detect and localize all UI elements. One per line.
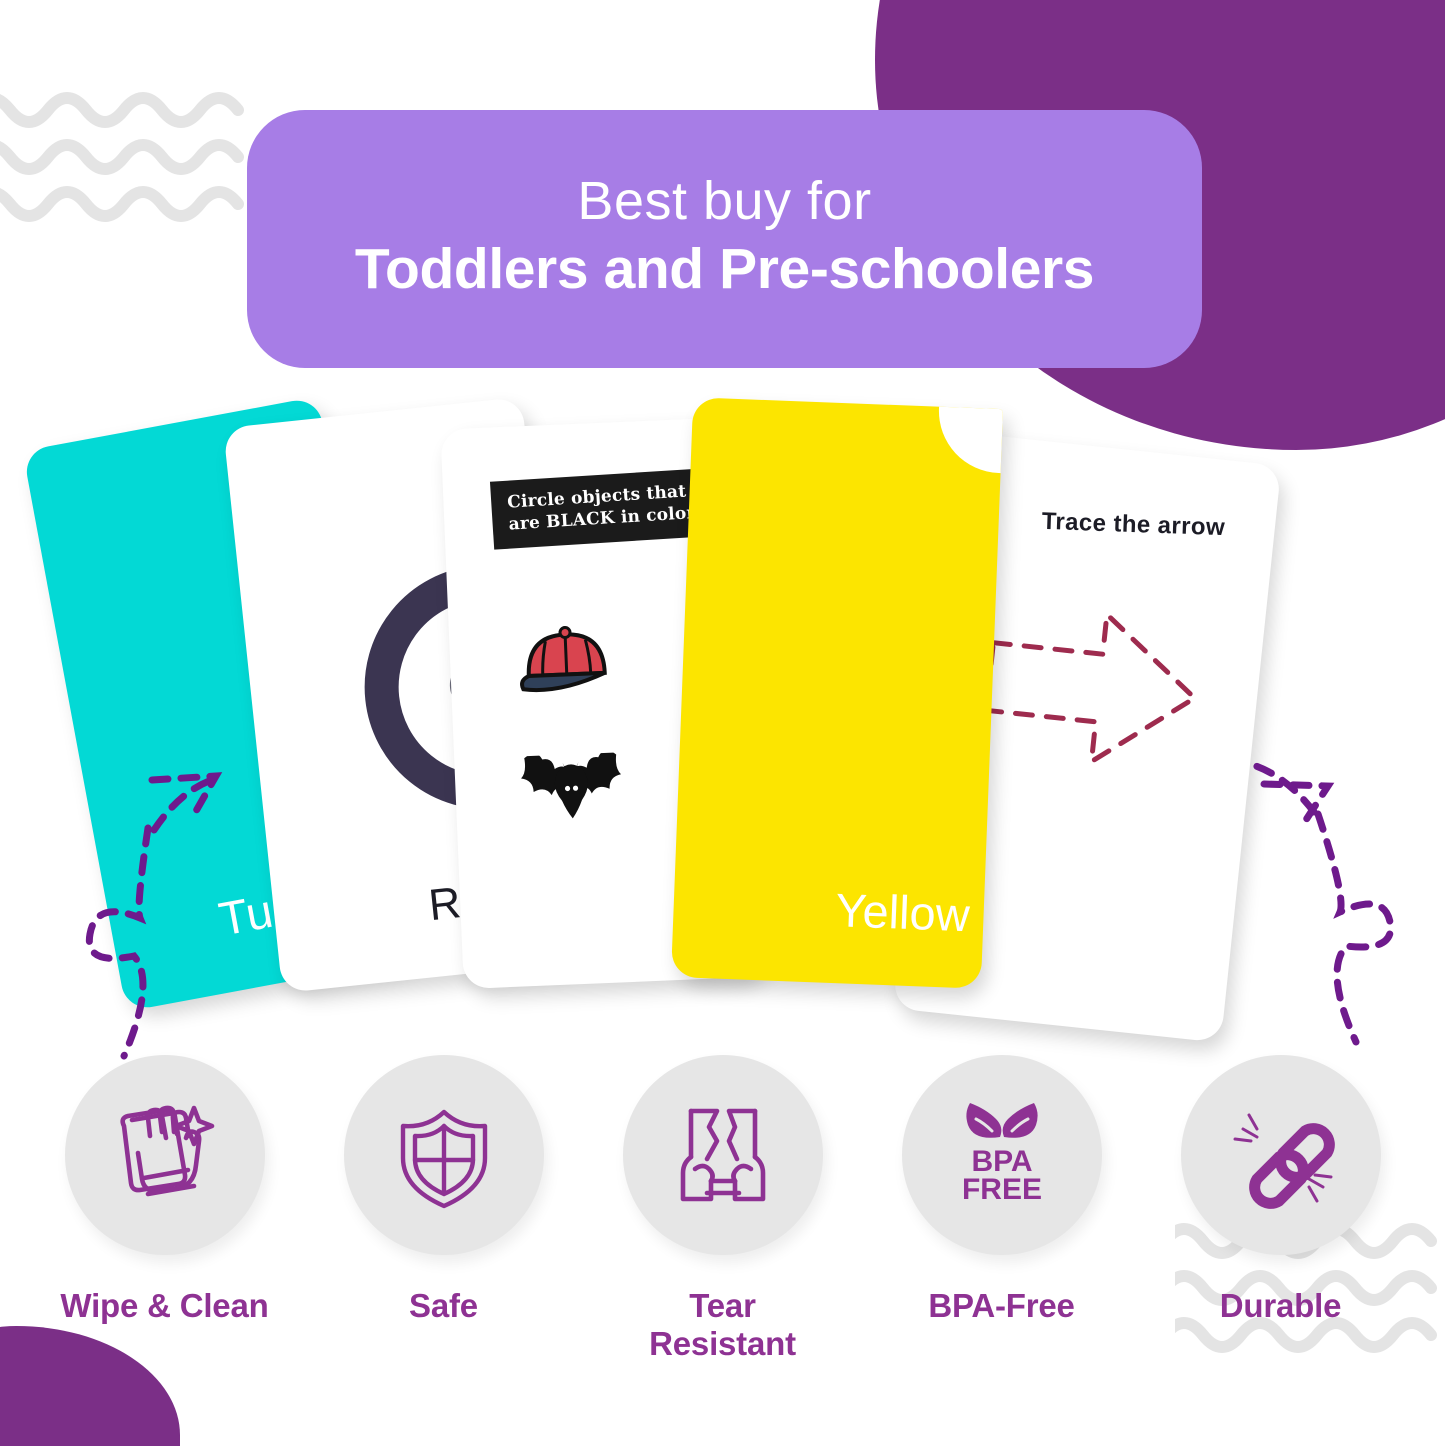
feature-wipe-clean: Wipe & Clean [52, 1055, 277, 1364]
feature-label-durable: Durable [1220, 1287, 1341, 1325]
wipe-clean-icon [106, 1096, 224, 1214]
wavy-lines-decoration-top-left [0, 85, 282, 235]
tear-resistant-icon [665, 1097, 781, 1213]
feature-circle-tear-resistant [623, 1055, 823, 1255]
feature-label-bpa-free: BPA-Free [928, 1287, 1074, 1325]
feature-safe: Safe [331, 1055, 556, 1364]
bat-icon [518, 752, 625, 834]
dashed-curve-arrow-right [1244, 742, 1444, 1072]
headline-banner: Best buy for Toddlers and Pre-schoolers [247, 110, 1202, 368]
card-heading-trace-arrow: Trace the arrow [968, 505, 1281, 544]
chain-link-icon [1223, 1097, 1339, 1213]
headline-title: Toddlers and Pre-schoolers [355, 234, 1094, 305]
card-heading-black-objects: Circle objects that are BLACK in color [490, 468, 710, 549]
feature-circle-durable [1181, 1055, 1381, 1255]
shield-icon [389, 1100, 499, 1210]
feature-label-tear-resistant: Tear Resistant [649, 1287, 796, 1364]
dashed-arrow-outline-icon [956, 585, 1228, 830]
feature-durable: Durable [1168, 1055, 1393, 1364]
dashed-curve-arrow-left [70, 740, 330, 1060]
feature-circle-safe [344, 1055, 544, 1255]
feature-badges-row: Wipe & Clean Safe [0, 1055, 1445, 1364]
feature-circle-wipe-clean [65, 1055, 265, 1255]
feature-circle-bpa-free: BPA FREE [902, 1055, 1102, 1255]
bpa-free-icon: BPA FREE [942, 1095, 1062, 1215]
baseball-cap-icon [515, 622, 618, 698]
flashcard-yellow[interactable]: Yellow [671, 397, 1003, 988]
bpa-badge-line2: FREE [961, 1173, 1041, 1206]
card-label-yellow: Yellow [747, 879, 1003, 946]
promo-graphic: Best buy for Toddlers and Pre-schoolers … [0, 0, 1445, 1446]
headline-subtitle: Best buy for [577, 173, 871, 230]
feature-label-wipe-clean: Wipe & Clean [60, 1287, 268, 1325]
feature-tear-resistant: Tear Resistant [610, 1055, 835, 1364]
feature-label-safe: Safe [409, 1287, 478, 1325]
feature-bpa-free: BPA FREE BPA-Free [889, 1055, 1114, 1364]
